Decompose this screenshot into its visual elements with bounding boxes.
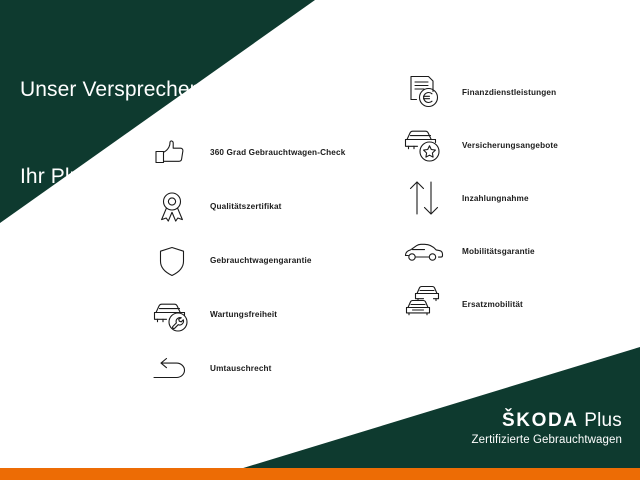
feature-item: Wartungsfreiheit bbox=[148, 288, 345, 341]
feature-item: Inzahlungnahme bbox=[400, 172, 558, 224]
feature-item: Umtauschrecht bbox=[148, 342, 345, 395]
shield-icon bbox=[148, 237, 196, 285]
promo-banner: Unser Versprechen. Ihr Plus. 360 Grad Ge… bbox=[0, 0, 640, 480]
feature-label: Ersatzmobilität bbox=[462, 300, 523, 309]
feature-list-right: Finanzdienstleistungen Versicherungsange… bbox=[400, 66, 558, 331]
headline-line-1: Unser Versprechen. bbox=[20, 75, 207, 104]
feature-label: Inzahlungnahme bbox=[462, 194, 529, 203]
feature-item: Qualitätszertifikat bbox=[148, 180, 345, 233]
feature-label: Wartungsfreiheit bbox=[210, 310, 277, 319]
car-star-icon bbox=[400, 121, 448, 169]
document-euro-icon bbox=[400, 68, 448, 116]
return-arrow-icon bbox=[148, 345, 196, 393]
logo-wordmark: ŠKODA Plus bbox=[472, 410, 622, 432]
orange-bottom-stripe bbox=[0, 468, 640, 480]
award-rosette-icon bbox=[148, 183, 196, 231]
feature-label: Mobilitätsgarantie bbox=[462, 247, 535, 256]
logo-suffix: Plus bbox=[584, 410, 622, 431]
logo-brand: ŠKODA bbox=[502, 410, 579, 431]
thumbs-up-icon bbox=[148, 129, 196, 177]
feature-label: Versicherungsangebote bbox=[462, 141, 558, 150]
feature-item: Ersatzmobilität bbox=[400, 278, 558, 330]
feature-label: Gebrauchtwagengarantie bbox=[210, 256, 312, 265]
logo-tagline: Zertifizierte Gebrauchtwagen bbox=[472, 433, 622, 448]
two-cars-icon bbox=[400, 280, 448, 328]
feature-label: 360 Grad Gebrauchtwagen-Check bbox=[210, 148, 345, 157]
feature-item: 360 Grad Gebrauchtwagen-Check bbox=[148, 126, 345, 179]
car-wrench-icon bbox=[148, 291, 196, 339]
feature-label: Finanzdienstleistungen bbox=[462, 88, 556, 97]
feature-label: Qualitätszertifikat bbox=[210, 202, 282, 211]
feature-item: Gebrauchtwagengarantie bbox=[148, 234, 345, 287]
up-down-arrows-icon bbox=[400, 174, 448, 222]
feature-item: Finanzdienstleistungen bbox=[400, 66, 558, 118]
feature-item: Versicherungsangebote bbox=[400, 119, 558, 171]
sedan-car-icon bbox=[400, 227, 448, 275]
feature-label: Umtauschrecht bbox=[210, 364, 272, 373]
feature-item: Mobilitätsgarantie bbox=[400, 225, 558, 277]
skoda-plus-logo: ŠKODA Plus Zertifizierte Gebrauchtwagen bbox=[472, 410, 622, 448]
feature-list-left: 360 Grad Gebrauchtwagen-Check Qualitätsz… bbox=[148, 126, 345, 396]
